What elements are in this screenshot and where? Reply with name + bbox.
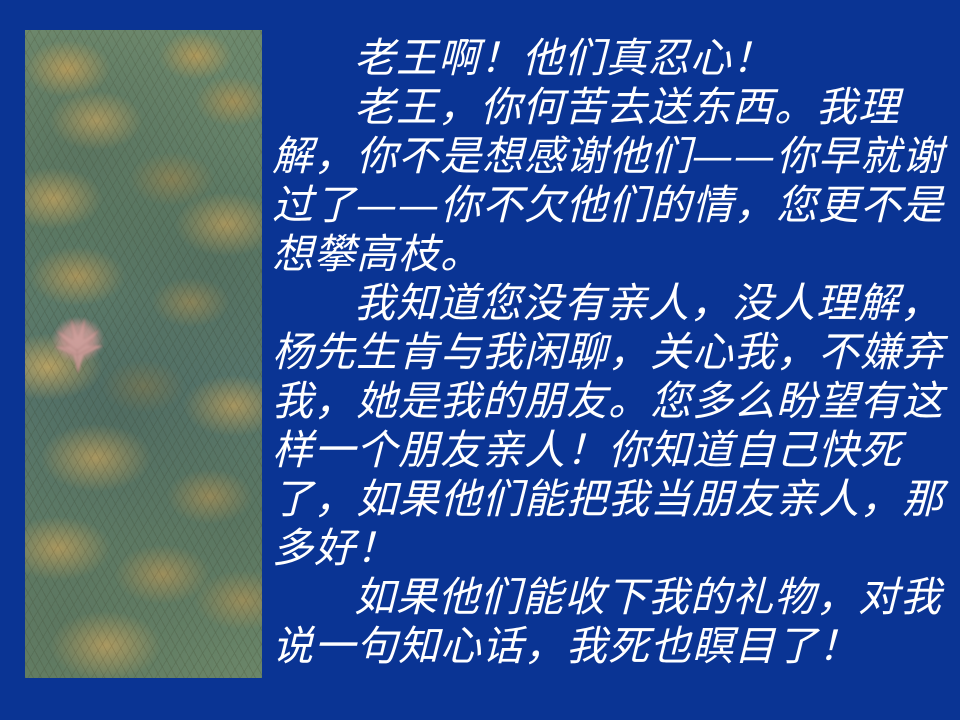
- slide-body-text: 老王啊！他们真忍心！ 老王，你何苦去送东西。我理解，你不是想感谢他们——你早就谢…: [272, 34, 958, 671]
- paragraph-2: 老王，你何苦去送东西。我理解，你不是想感谢他们——你早就谢过了——你不欠他们的情…: [272, 83, 958, 279]
- decorative-image: [25, 30, 262, 678]
- pink-maple-leaf-icon: [43, 313, 113, 377]
- slide-canvas: 老王啊！他们真忍心！ 老王，你何苦去送东西。我理解，你不是想感谢他们——你早就谢…: [0, 0, 960, 720]
- paragraph-4: 如果他们能收下我的礼物，对我说一句知心话，我死也瞑目了！: [272, 573, 958, 671]
- paragraph-3: 我知道您没有亲人，没人理解，杨先生肯与我闲聊，关心我，不嫌弃我，她是我的朋友。您…: [272, 279, 958, 573]
- paragraph-1: 老王啊！他们真忍心！: [272, 34, 958, 83]
